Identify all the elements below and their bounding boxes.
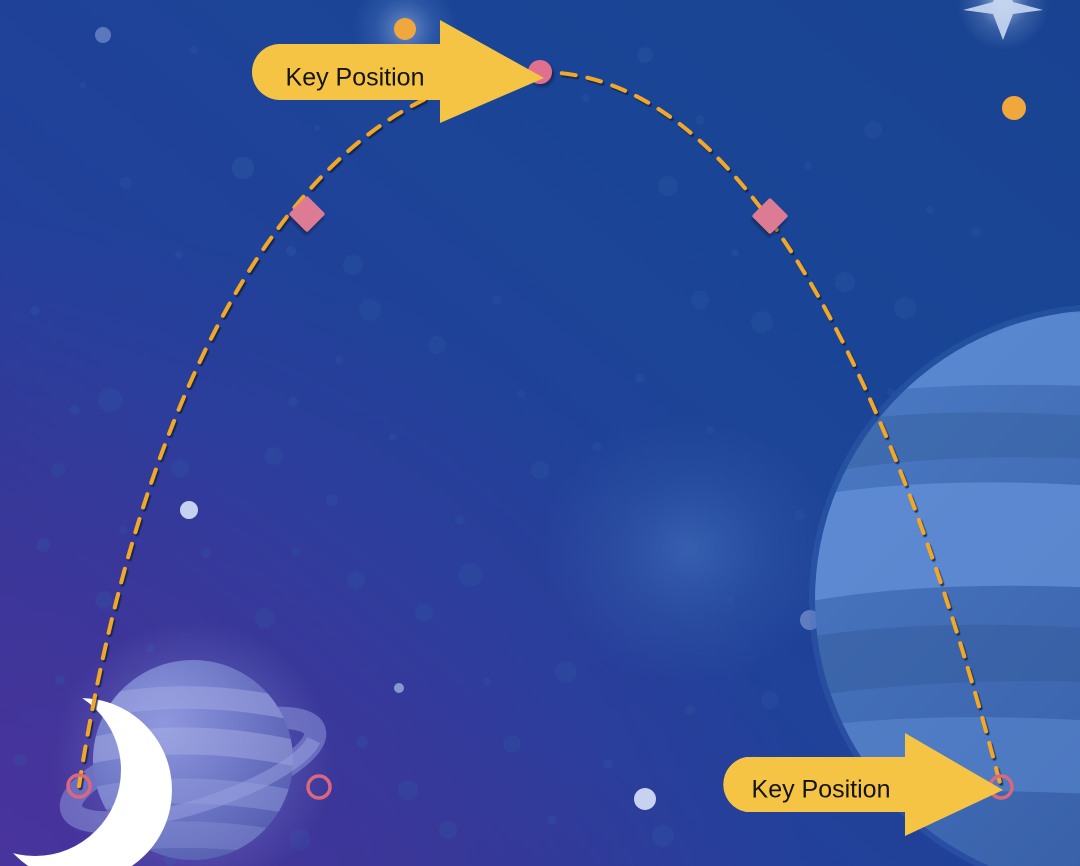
key-position-callout-bottom[interactable]: Key Position bbox=[723, 733, 1003, 836]
space-scene: Key Position Key Position bbox=[0, 0, 1080, 866]
annotation-layer: Key Position Key Position bbox=[0, 0, 1080, 866]
key-position-label-bottom: Key Position bbox=[752, 776, 891, 804]
key-position-label-top: Key Position bbox=[286, 64, 425, 92]
key-position-callout-top[interactable]: Key Position bbox=[252, 20, 544, 123]
